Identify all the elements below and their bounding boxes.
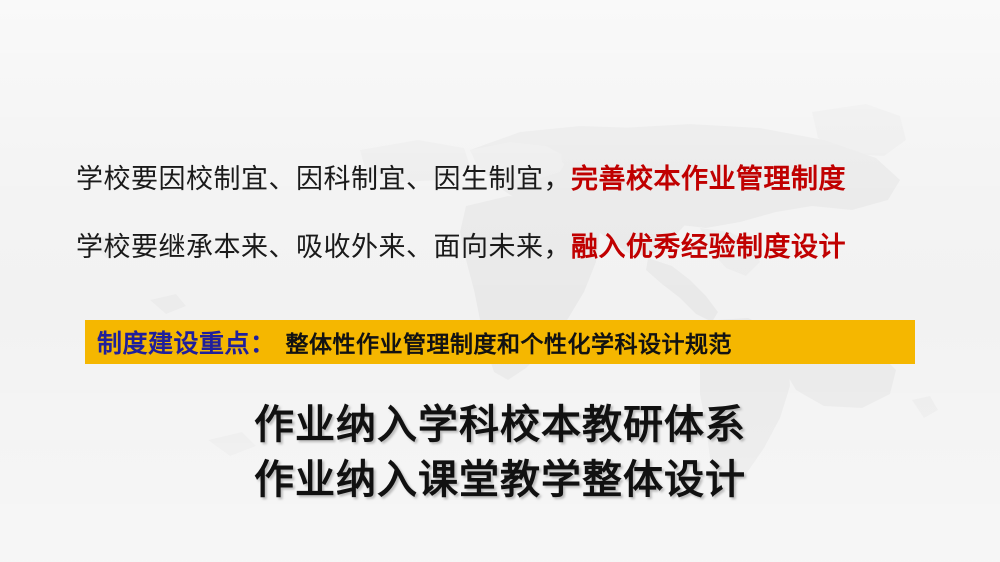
statement-2-lead: 学校要继承本来、吸收外来、面向未来， [76, 232, 571, 262]
statement-1-lead: 学校要因校制宜、因科制宜、因生制宜， [76, 164, 571, 194]
headline-line-1: 作业纳入学科校本教研体系 [0, 392, 1000, 450]
highlight-bar-label: 制度建设重点： [97, 324, 276, 360]
slide-content: 学校要因校制宜、因科制宜、因生制宜，完善校本作业管理制度 学校要继承本来、吸收外… [0, 0, 1000, 562]
headline-line-2: 作业纳入课堂教学整体设计 [0, 447, 1000, 505]
slide-canvas: 学校要因校制宜、因科制宜、因生制宜，完善校本作业管理制度 学校要继承本来、吸收外… [0, 0, 1000, 562]
highlight-bar-body: 整体性作业管理制度和个性化学科设计规范 [286, 325, 733, 359]
statement-line-1: 学校要因校制宜、因科制宜、因生制宜，完善校本作业管理制度 [76, 166, 936, 193]
highlight-bar: 制度建设重点： 整体性作业管理制度和个性化学科设计规范 [85, 320, 915, 364]
statement-line-2: 学校要继承本来、吸收外来、面向未来，融入优秀经验制度设计 [76, 234, 936, 261]
statement-1-accent: 完善校本作业管理制度 [571, 164, 846, 194]
statement-2-accent: 融入优秀经验制度设计 [571, 232, 846, 262]
